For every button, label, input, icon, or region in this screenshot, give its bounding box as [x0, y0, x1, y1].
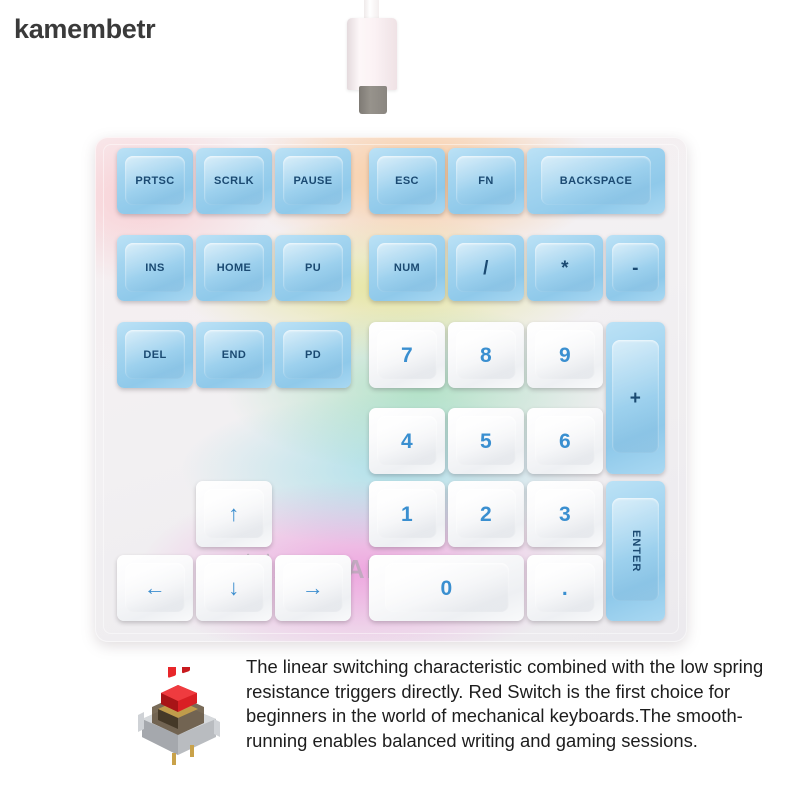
switch-description: The linear switching characteristic comb…: [246, 655, 771, 753]
key-4[interactable]: 4: [369, 408, 445, 474]
product-info-section: The linear switching characteristic comb…: [128, 655, 778, 790]
key-label: PAUSE: [293, 176, 332, 187]
usb-c-plug-icon: [359, 86, 387, 114]
key-page-up[interactable]: PU: [275, 235, 351, 301]
key-enter[interactable]: ENTER: [606, 481, 665, 621]
key-label: 1: [401, 504, 413, 525]
key-label: HOME: [217, 263, 252, 274]
key-label: →: [302, 577, 324, 599]
key-numlock[interactable]: NUM: [369, 235, 445, 301]
key-backspace[interactable]: BACKSPACE: [527, 148, 665, 214]
key-1[interactable]: 1: [369, 481, 445, 547]
key-label: 9: [559, 345, 571, 366]
numeric-keypad: APAYADO PRTSCSCRLKPAUSEESCFNBACKSPACEINS…: [95, 137, 687, 642]
key-divide[interactable]: /: [448, 235, 524, 301]
key-minus[interactable]: -: [606, 235, 665, 301]
key-prtsc[interactable]: PRTSC: [117, 148, 193, 214]
key-label: BACKSPACE: [560, 176, 632, 187]
key-6[interactable]: 6: [527, 408, 603, 474]
key-esc[interactable]: ESC: [369, 148, 445, 214]
key-arrow-left[interactable]: ←: [117, 555, 193, 621]
key-decimal[interactable]: .: [527, 555, 603, 621]
key-label: 6: [559, 431, 571, 452]
key-label: 5: [480, 431, 492, 452]
key-label: SCRLK: [214, 176, 254, 187]
key-label: ENTER: [630, 530, 641, 572]
key-scrlk[interactable]: SCRLK: [196, 148, 272, 214]
key-9[interactable]: 9: [527, 322, 603, 388]
key-pause[interactable]: PAUSE: [275, 148, 351, 214]
key-label: -: [632, 259, 639, 278]
key-label: 2: [480, 504, 492, 525]
key-fn[interactable]: FN: [448, 148, 524, 214]
key-arrow-right[interactable]: →: [275, 555, 351, 621]
key-8[interactable]: 8: [448, 322, 524, 388]
key-plus[interactable]: +: [606, 322, 665, 474]
key-label: FN: [478, 176, 493, 187]
key-3[interactable]: 3: [527, 481, 603, 547]
key-ins[interactable]: INS: [117, 235, 193, 301]
key-label: 7: [401, 345, 413, 366]
key-label: /: [483, 259, 489, 278]
key-label: DEL: [143, 350, 166, 361]
key-7[interactable]: 7: [369, 322, 445, 388]
key-label: ↓: [228, 577, 239, 599]
red-mechanical-switch-icon: [128, 667, 228, 767]
key-2[interactable]: 2: [448, 481, 524, 547]
key-label: 3: [559, 504, 571, 525]
key-arrow-down[interactable]: ↓: [196, 555, 272, 621]
key-arrow-up[interactable]: ↑: [196, 481, 272, 547]
key-label: INS: [145, 263, 165, 274]
key-label: PD: [305, 350, 321, 361]
key-end[interactable]: END: [196, 322, 272, 388]
key-5[interactable]: 5: [448, 408, 524, 474]
key-del[interactable]: DEL: [117, 322, 193, 388]
key-label: NUM: [394, 263, 420, 274]
watermark-text: kamembetr: [14, 14, 155, 45]
key-label: 4: [401, 431, 413, 452]
key-label: PU: [305, 263, 321, 274]
key-multiply[interactable]: *: [527, 235, 603, 301]
key-label: ↑: [228, 503, 239, 525]
key-label: 8: [480, 345, 492, 366]
key-label: PRTSC: [135, 176, 174, 187]
key-label: ←: [144, 577, 166, 599]
key-label: *: [561, 259, 569, 278]
key-label: END: [222, 350, 246, 361]
key-label: ESC: [395, 176, 419, 187]
key-0[interactable]: 0: [369, 555, 524, 621]
key-label: 0: [440, 578, 452, 599]
key-page-down[interactable]: PD: [275, 322, 351, 388]
usb-connector-body: [347, 18, 397, 90]
key-label: .: [562, 578, 568, 599]
key-home[interactable]: HOME: [196, 235, 272, 301]
key-label: +: [630, 389, 642, 408]
usb-cable: [320, 0, 430, 138]
